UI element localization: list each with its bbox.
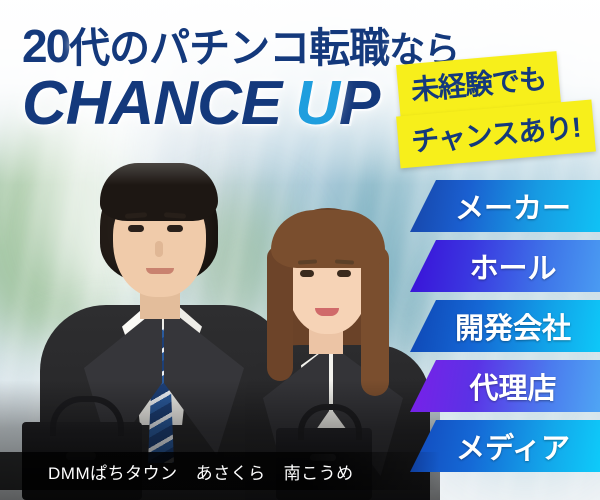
people-photo [0,155,430,500]
logo-letter-u: U [295,68,339,139]
category-button-list: メーカー ホール 開発会社 代理店 メディア [410,180,600,480]
logo-letter-p: P [339,69,379,138]
logo-word-chance: CHANCE [22,69,281,138]
category-button-maker[interactable]: メーカー [410,180,600,232]
category-button-development-company[interactable]: 開発会社 [410,300,600,352]
category-button-hall[interactable]: ホール [410,240,600,292]
category-button-agency[interactable]: 代理店 [410,360,600,412]
category-label: 開発会社 [439,305,571,347]
credit-name-1: あさくら [196,464,266,483]
chance-up-logo: CHANCEUP [22,68,379,139]
credit-text: DMMぱちタウンあさくら南こうめ [48,459,354,484]
credit-name-2: 南こうめ [284,464,354,483]
credit-site: DMMぱちタウン [48,464,178,483]
chance-up-banner: 20代のパチンコ転職なら CHANCEUP 未経験でも チャンスあり! メーカー… [0,0,600,500]
category-label: 代理店 [453,365,556,407]
category-label: メディア [440,425,570,467]
page-title: 20代のパチンコ転職なら [22,14,459,74]
category-label: ホール [453,245,556,287]
headline-number: 20 [22,20,69,72]
category-label: メーカー [439,185,571,227]
headline-middle: 代のパチンコ転職 [69,25,389,71]
